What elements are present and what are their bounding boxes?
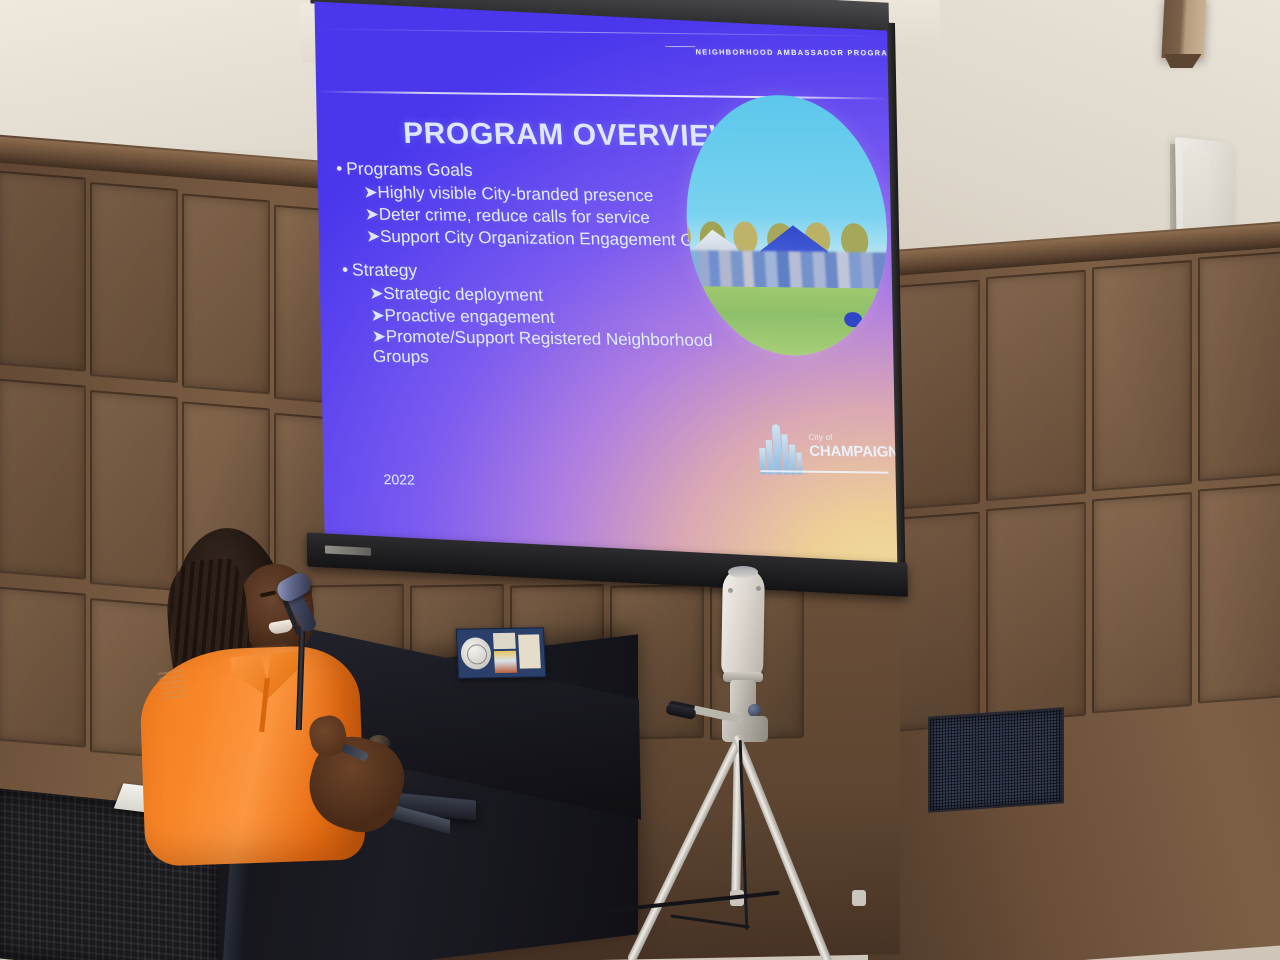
microphone-cable: [670, 914, 750, 928]
slide-photo-oval: [679, 94, 894, 357]
slide-sub-bullet: ➤Promote/Support Registered Neighborhood…: [371, 327, 747, 371]
city-logo-line2: CHAMPAIGN: [809, 443, 898, 461]
microphone-port-icon: [728, 588, 733, 593]
slide-accent-line-upper: [315, 29, 887, 37]
slide-bullet-group-label: •Strategy: [341, 259, 742, 285]
placard-photo: [518, 634, 541, 668]
placard-photo: [494, 651, 517, 673]
skyscraper-icon: [757, 420, 804, 475]
wall-vent-grille: [928, 707, 1064, 813]
presentation-slide: NEIGHBORHOOD AMBASSADOR PROGRAM PROGRAM …: [314, 2, 897, 565]
slide-sub-bullet: ➤Strategic deployment: [369, 283, 744, 307]
chevron-right-icon: ➤: [371, 327, 386, 347]
microphone-port-icon: [756, 586, 761, 591]
chevron-right-icon: ➤: [369, 283, 384, 303]
city-logo: City of CHAMPAIGN: [757, 418, 889, 482]
city-seal-icon: [460, 637, 492, 669]
chevron-right-icon: ➤: [365, 226, 380, 246]
chevron-right-icon: ➤: [364, 204, 379, 224]
slide-year: 2022: [383, 471, 415, 487]
photo-grass: [690, 287, 894, 357]
left-upper-wall: [0, 0, 340, 150]
tripod-leg-clamp: [852, 890, 866, 906]
slide-sub-bullet: ➤Support City Organization Engagement Go…: [365, 226, 740, 250]
slide-bullet-group-label: •Programs Goals: [336, 158, 737, 184]
sleeve-logo-patch: [158, 666, 188, 699]
presentation-room-scene: NEIGHBORHOOD AMBASSADOR PROGRAM PROGRAM …: [0, 0, 1280, 960]
slide-sub-bullet: ➤Highly visible City-branded presence: [363, 183, 738, 207]
slide-eyebrow-dash: [665, 46, 695, 47]
slide-eyebrow: NEIGHBORHOOD AMBASSADOR PROGRAM: [695, 47, 896, 57]
city-logo-line1: City of: [808, 433, 833, 442]
podium-placard: [456, 627, 547, 678]
presenter: [132, 520, 382, 860]
chevron-right-icon: ➤: [370, 305, 385, 325]
microphone-cap: [728, 566, 758, 578]
slide-sub-bullet: ➤Deter crime, reduce calls for service: [364, 204, 739, 228]
right-wood-paneling: [868, 220, 1280, 960]
vent-mesh-pattern: [930, 709, 1062, 810]
slide-sub-bullet: ➤Proactive engagement: [370, 305, 745, 329]
placard-photo: [493, 633, 516, 649]
shotgun-microphone: [721, 568, 765, 679]
ceiling-beam: [1161, 0, 1206, 58]
chevron-right-icon: ➤: [363, 183, 378, 203]
projection-screen: NEIGHBORHOOD AMBASSADOR PROGRAM PROGRAM …: [310, 0, 900, 603]
